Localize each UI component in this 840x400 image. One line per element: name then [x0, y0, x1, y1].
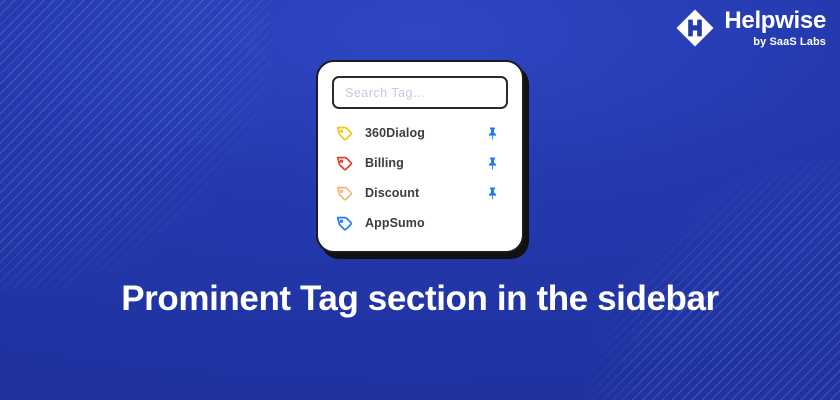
- brand-name: Helpwise: [724, 9, 826, 33]
- search-tag-box[interactable]: [332, 76, 508, 109]
- tag-list-item[interactable]: Discount: [332, 178, 508, 208]
- tag-label: 360Dialog: [365, 126, 485, 140]
- page-headline: Prominent Tag section in the sidebar: [0, 278, 840, 321]
- tag-label: AppSumo: [365, 216, 485, 230]
- tag-icon: [335, 124, 354, 143]
- pushpin-icon[interactable]: [485, 186, 506, 201]
- tag-list-item[interactable]: AppSumo: [332, 208, 508, 238]
- helpwise-diamond-h-logo-icon: [675, 8, 715, 48]
- tag-list: 360Dialog Billing: [332, 118, 508, 238]
- tag-label: Billing: [365, 156, 485, 170]
- tag-icon: [335, 154, 354, 173]
- tag-list-item[interactable]: Billing: [332, 148, 508, 178]
- pushpin-icon[interactable]: [485, 126, 506, 141]
- tag-label: Discount: [365, 186, 485, 200]
- brand-tagline: by SaaS Labs: [753, 37, 826, 48]
- pushpin-icon[interactable]: [485, 156, 506, 171]
- tag-icon: [335, 214, 354, 233]
- brand-logo: Helpwise by SaaS Labs: [675, 8, 826, 48]
- search-tag-input[interactable]: [345, 86, 495, 100]
- brand-text: Helpwise by SaaS Labs: [724, 9, 826, 48]
- tag-list-item[interactable]: 360Dialog: [332, 118, 508, 148]
- decorative-hatch-top-left: [0, 0, 270, 290]
- tag-icon: [335, 184, 354, 203]
- tag-section-card: 360Dialog Billing: [316, 60, 524, 253]
